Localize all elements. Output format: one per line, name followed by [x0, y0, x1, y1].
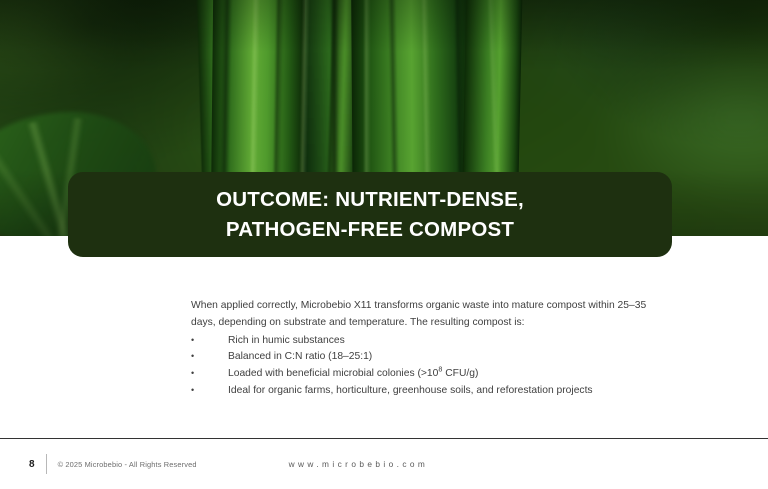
list-item-label: Rich in humic substances — [228, 333, 661, 350]
list-item: • Rich in humic substances — [191, 333, 661, 350]
slide-body: When applied correctly, Microbebio X11 t… — [191, 298, 661, 400]
list-item: • Ideal for organic farms, horticulture,… — [191, 383, 661, 400]
intro-paragraph: When applied correctly, Microbebio X11 t… — [191, 298, 661, 332]
bullet-icon: • — [191, 333, 228, 348]
list-item-label-before: Loaded with beneficial microbial colonie… — [228, 368, 438, 379]
slide-title-line-1: OUTCOME: NUTRIENT-DENSE, — [216, 185, 524, 214]
benefits-list: • Rich in humic substances • Balanced in… — [191, 333, 661, 400]
slide-title: OUTCOME: NUTRIENT-DENSE, PATHOGEN-FREE C… — [196, 185, 544, 243]
list-item-label: Balanced in C:N ratio (18–25:1) — [228, 349, 661, 366]
slide-title-line-2: PATHOGEN-FREE COMPOST — [216, 215, 524, 244]
list-item-label-after: CFU/g) — [442, 368, 478, 379]
title-banner: OUTCOME: NUTRIENT-DENSE, PATHOGEN-FREE C… — [68, 172, 672, 257]
page-number: 8 — [29, 459, 35, 470]
bullet-icon: • — [191, 349, 228, 364]
bullet-icon: • — [191, 383, 228, 398]
list-item: • Balanced in C:N ratio (18–25:1) — [191, 349, 661, 366]
footer-separator — [46, 454, 47, 474]
list-item-label: Loaded with beneficial microbial colonie… — [228, 366, 661, 383]
list-item-label: Ideal for organic farms, horticulture, g… — [228, 383, 661, 400]
website-url: www.microbebio.com — [289, 459, 429, 469]
bullet-icon: • — [191, 366, 228, 381]
footer: 8 © 2025 Microbebio - All Rights Reserve… — [0, 439, 768, 489]
copyright-text: © 2025 Microbebio - All Rights Reserved — [58, 460, 197, 469]
list-item: • Loaded with beneficial microbial colon… — [191, 366, 661, 383]
